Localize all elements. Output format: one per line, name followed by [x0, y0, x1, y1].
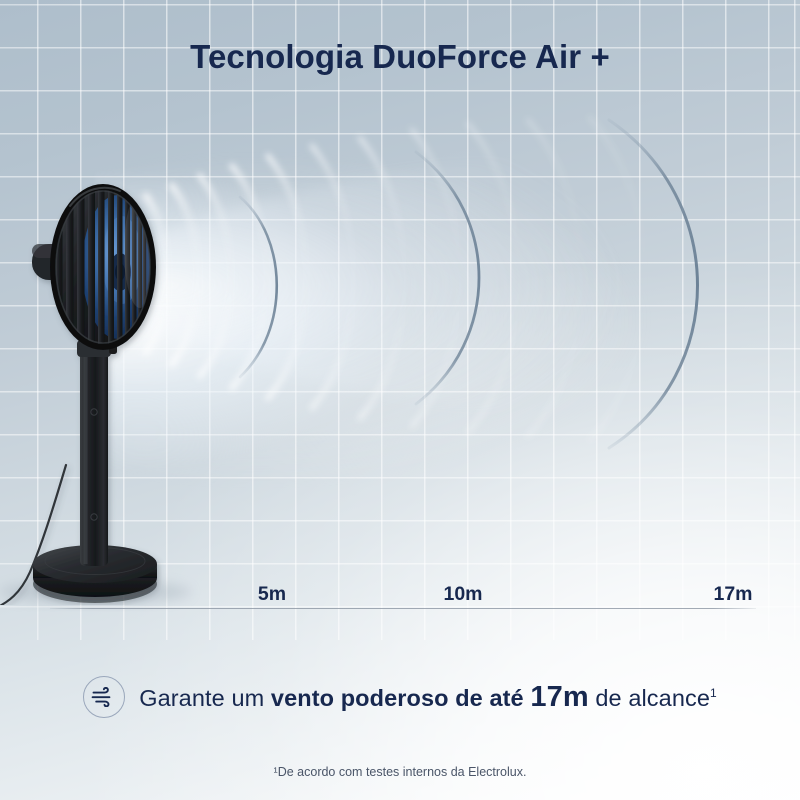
distance-mark-5m: 5m — [258, 583, 286, 606]
tagline-part1: Garante um — [139, 685, 271, 711]
promo-banner: Tecnologia DuoForce Air + 5m 10m 17m Gar… — [0, 0, 800, 800]
page-title: Tecnologia DuoForce Air + — [0, 38, 800, 76]
tagline-distance: 17m — [530, 681, 588, 713]
distance-mark-17m: 17m — [713, 583, 752, 606]
wind-icon — [83, 676, 125, 718]
airflow-arc-17m — [609, 120, 698, 448]
footnote: ¹De acordo com testes internos da Electr… — [0, 765, 800, 779]
distance-mark-10m: 10m — [443, 583, 482, 606]
tagline-part2: de alcance — [589, 685, 710, 711]
tagline-superscript: 1 — [710, 686, 717, 700]
tagline: Garante um vento poderoso de até 17m de … — [0, 676, 800, 718]
pedestal-fan — [0, 140, 190, 605]
tagline-text: Garante um vento poderoso de até 17m de … — [139, 683, 717, 712]
ruler-baseline — [50, 608, 756, 609]
airflow-arc-10m — [416, 152, 479, 404]
airflow-glow — [95, 120, 755, 520]
tagline-bold: vento poderoso de até — [271, 685, 530, 711]
airflow-arc-5m — [240, 197, 277, 377]
distance-ruler: 5m 10m 17m — [0, 583, 800, 623]
